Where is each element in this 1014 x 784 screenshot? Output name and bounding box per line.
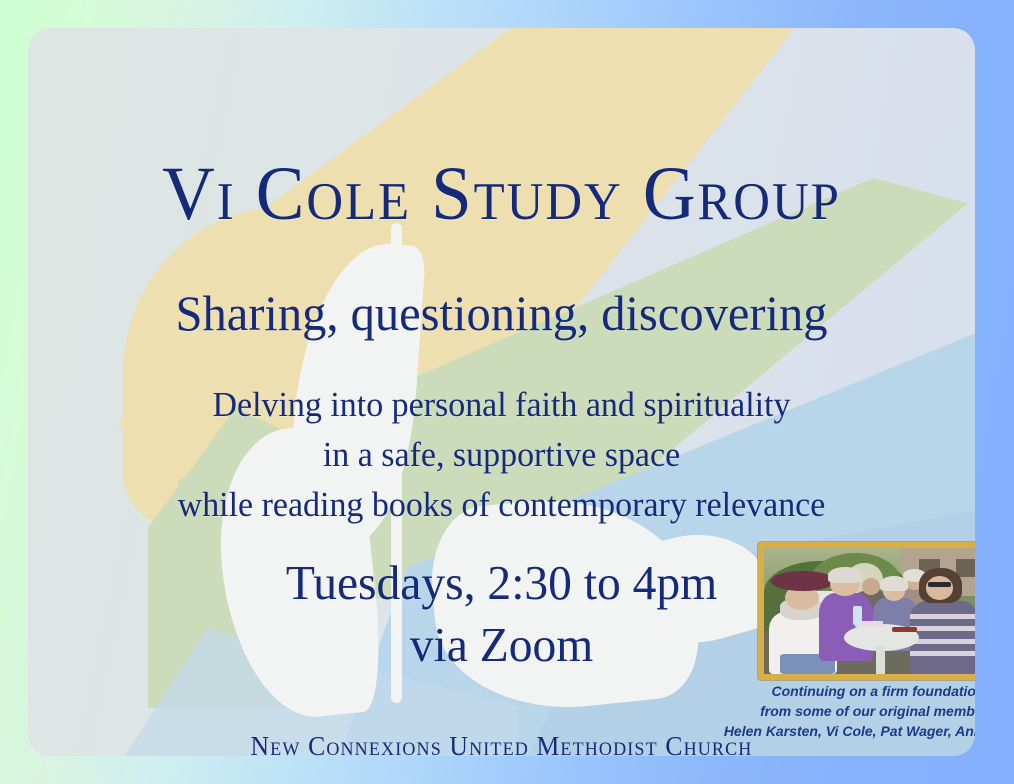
poster-subtitle: Sharing, questioning, discovering [42, 286, 961, 341]
photo-person-4-stripe-2 [910, 626, 975, 631]
photo-person-4-stripe-3 [910, 639, 975, 644]
group-photo [758, 542, 975, 680]
description-line-3: while reading books of contemporary rele… [42, 480, 961, 530]
photo-person-4-stripe-4 [910, 651, 975, 656]
group-photo-image [764, 548, 975, 674]
photo-person-4-stripe-1 [910, 614, 975, 619]
photo-person-2-hair [828, 567, 862, 583]
photo-person-5-head [862, 578, 880, 594]
photo-person-4-sunglasses [928, 582, 951, 587]
photo-water-bottle [853, 606, 862, 625]
poster-canvas: Vi Cole Study Group Sharing, questioning… [0, 0, 1014, 784]
photo-person-3-hair [880, 576, 907, 591]
photo-table-leg [876, 646, 885, 674]
church-name: New Connexions United Methodist Church [52, 732, 952, 756]
caption-line-2: from some of our original members [678, 702, 975, 722]
photo-person-1-hat [771, 571, 835, 591]
photo-person-4-head [926, 576, 953, 600]
poster-footer: New Connexions United Methodist Church N… [28, 732, 975, 756]
poster-description: Delving into personal faith and spiritua… [42, 380, 961, 530]
description-line-2: in a safe, supportive space [42, 430, 961, 480]
description-line-1: Delving into personal faith and spiritua… [42, 380, 961, 430]
poster-content: Vi Cole Study Group Sharing, questioning… [28, 28, 975, 756]
caption-line-1: Continuing on a firm foundation [678, 682, 975, 702]
photo-person-4-body [910, 601, 975, 674]
photo-red-book [892, 627, 917, 632]
poster-title: Vi Cole Study Group [47, 156, 956, 232]
poster-card: Vi Cole Study Group Sharing, questioning… [28, 28, 975, 756]
